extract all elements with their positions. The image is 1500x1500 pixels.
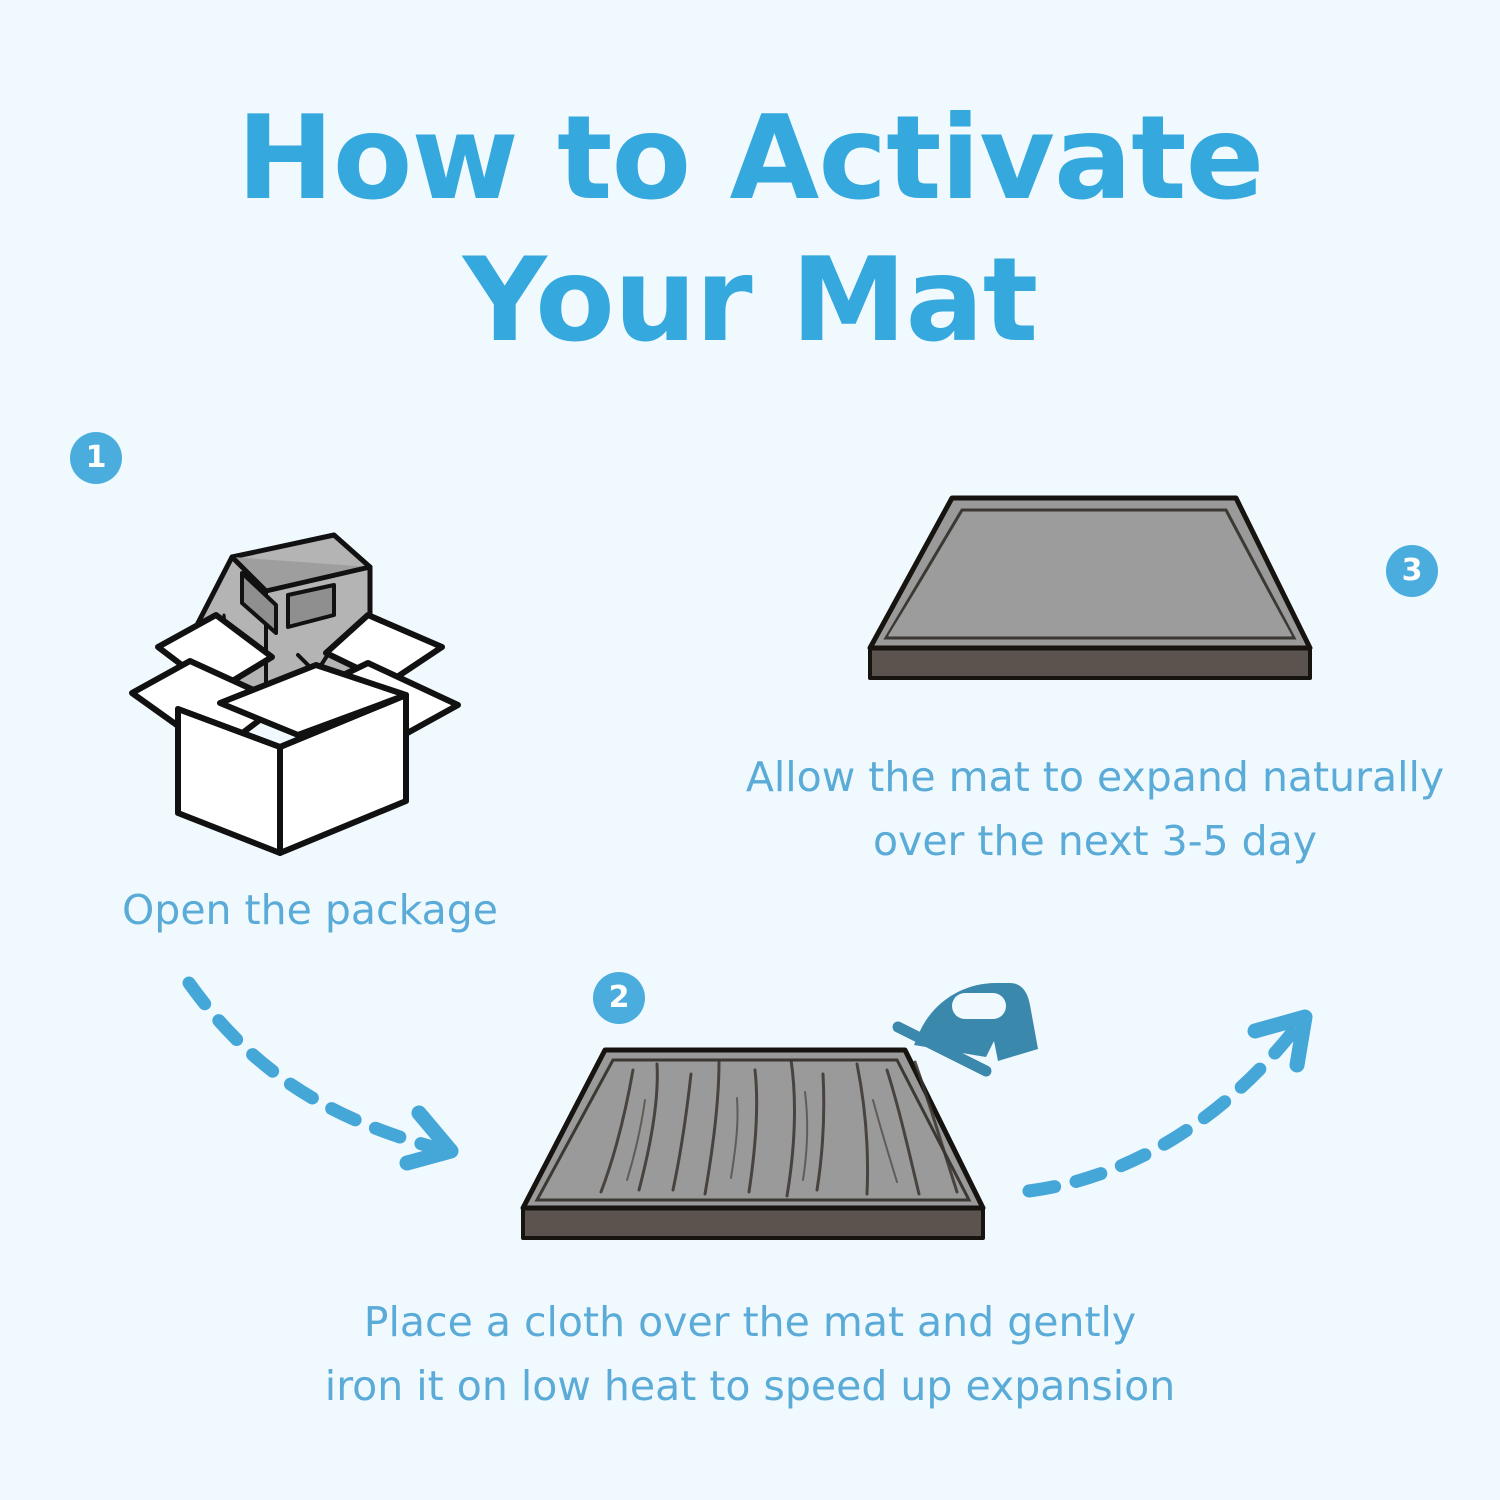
caption-line: Allow the mat to expand naturally [700, 745, 1490, 809]
expanded-mat-illustration [860, 490, 1340, 700]
open-box-illustration [120, 495, 490, 855]
dashed-curved-arrow-up-right-icon [1015, 995, 1335, 1215]
caption-line: iron it on low heat to speed up expansio… [240, 1354, 1260, 1418]
dashed-curved-arrow-down-right-icon [175, 965, 505, 1195]
caption-line: over the next 3-5 day [700, 809, 1490, 873]
page-title: How to Activate Your Mat [0, 88, 1500, 372]
step-2-caption: Place a cloth over the mat and gently ir… [240, 1290, 1260, 1418]
step-1-caption: Open the package [30, 878, 590, 942]
title-line-1: How to Activate [0, 88, 1500, 230]
step-badge-2: 2 [593, 972, 645, 1024]
caption-line: Place a cloth over the mat and gently [240, 1290, 1260, 1354]
title-line-2: Your Mat [0, 230, 1500, 372]
step-badge-3: 3 [1386, 545, 1438, 597]
caption-line: Open the package [30, 878, 590, 942]
infographic-canvas: How to Activate Your Mat 1 [0, 0, 1500, 1500]
step-3-caption: Allow the mat to expand naturally over t… [700, 745, 1490, 873]
step-badge-1: 1 [70, 432, 122, 484]
mat-with-cloth-illustration [505, 1040, 1005, 1265]
